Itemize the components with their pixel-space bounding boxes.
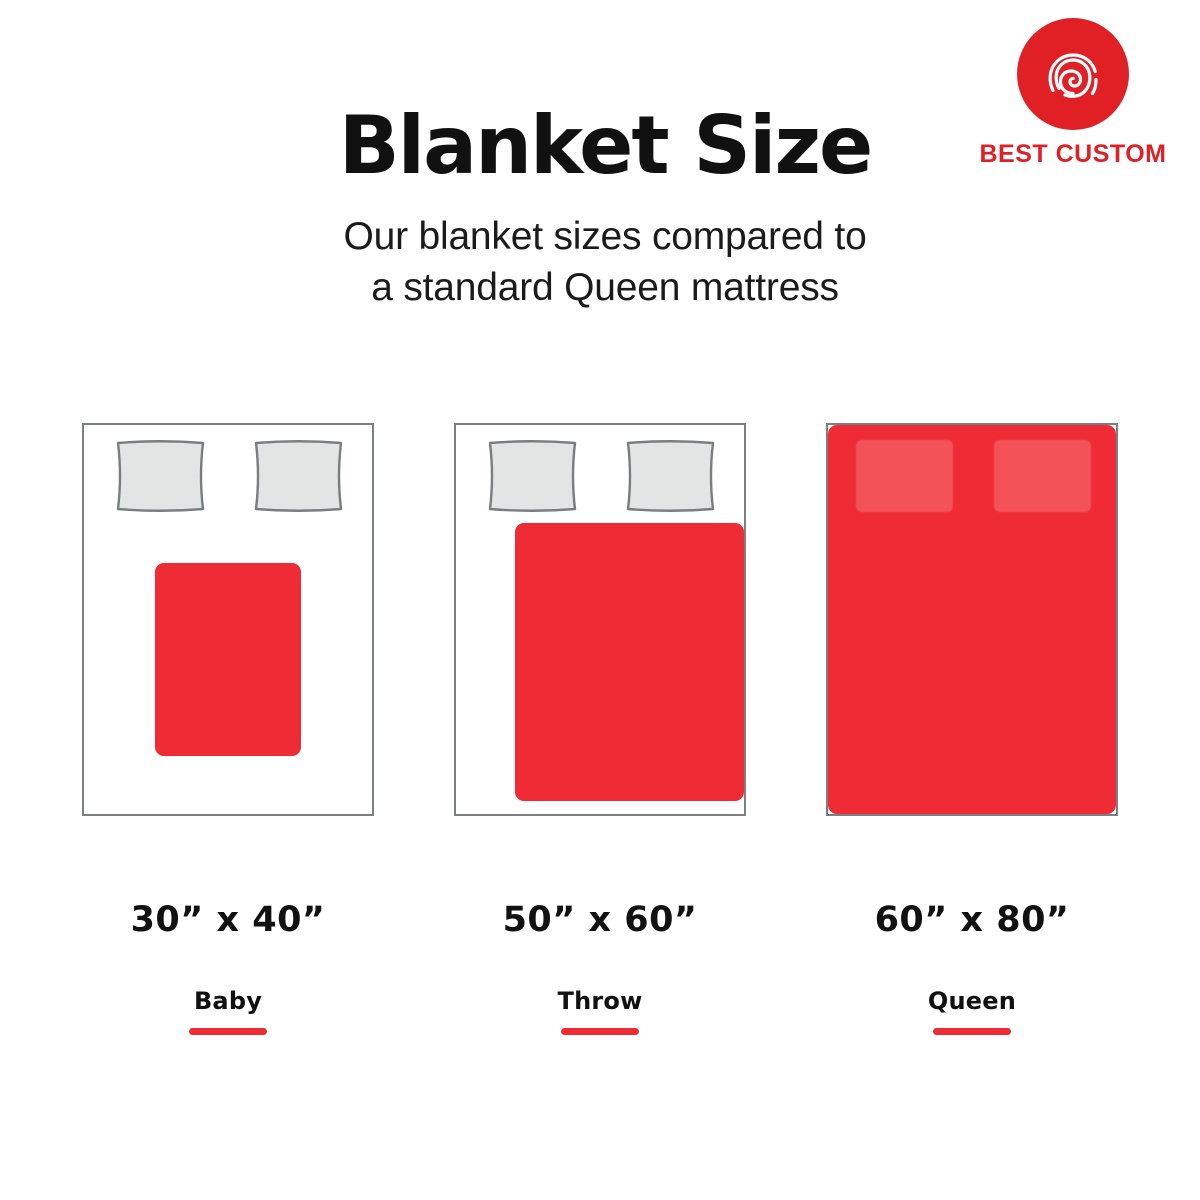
pillow-icon-left [112,439,209,513]
subtitle-line-1: Our blanket sizes compared to [10,212,1200,263]
accent-underline [561,1028,639,1035]
size-name-text: Baby [194,987,262,1015]
mattress-outline-baby [82,423,374,816]
bed-column-queen [826,423,1118,816]
blanket-overlay-throw [515,523,744,801]
accent-underline [933,1028,1011,1035]
pillow-icon-right [994,440,1091,512]
dimension-text: 60” x 80” [875,900,1070,940]
size-label-baby: 30” x 40” Baby [82,900,374,1035]
bed-column-baby [82,423,374,816]
mattress-outline-throw [454,423,746,816]
pillow-icon-left [856,440,953,512]
dimension-text: 50” x 60” [503,900,698,940]
pillow-icon-left [484,439,581,513]
dimension-text: 30” x 40” [131,900,326,940]
page-title: Blanket Size [10,106,1200,186]
blanket-overlay-baby [155,563,301,756]
size-name-text: Queen [928,987,1016,1015]
bed-comparison-row [0,423,1200,816]
subtitle-line-2: a standard Queen mattress [10,263,1200,314]
header-block: Blanket Size Our blanket sizes compared … [0,106,1200,313]
mattress-outline-queen [826,423,1118,816]
accent-underline [189,1028,267,1035]
pillow-icon-right [250,439,347,513]
size-label-queen: 60” x 80” Queen [826,900,1118,1035]
blanket-overlay-queen [828,425,1116,814]
page-subtitle: Our blanket sizes compared to a standard… [10,212,1200,313]
size-name-text: Throw [558,987,643,1015]
bed-column-throw [454,423,746,816]
size-labels-row: 30” x 40” Baby 50” x 60” Throw 60” x 80”… [0,900,1200,1035]
size-label-throw: 50” x 60” Throw [454,900,746,1035]
fingerprint-icon [1038,39,1108,109]
pillow-icon-right [622,439,719,513]
